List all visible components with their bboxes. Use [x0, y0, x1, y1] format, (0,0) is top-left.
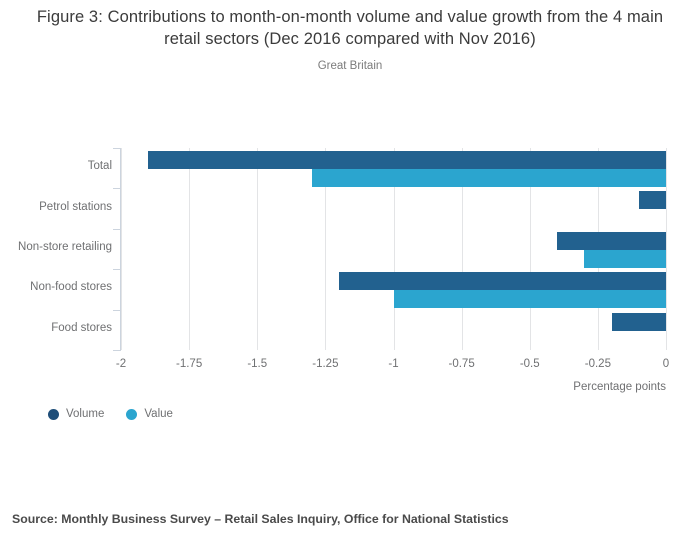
chart-subtitle: Great Britain — [18, 60, 682, 72]
title-block: Figure 3: Contributions to month-on-mont… — [18, 6, 682, 72]
legend-item[interactable]: Value — [126, 408, 173, 420]
gridline — [121, 148, 122, 350]
category-label: Non-store retailing — [2, 241, 112, 253]
bar-value[interactable] — [312, 169, 666, 187]
x-axis-tick-label: -1.5 — [247, 358, 267, 370]
bar-volume[interactable] — [639, 191, 666, 209]
x-axis-tick-label: -1 — [388, 358, 398, 370]
y-axis-tick — [113, 350, 121, 351]
gridline — [257, 148, 258, 350]
x-axis-tick-labels: -2-1.75-1.5-1.25-1-0.75-0.5-0.250 — [0, 358, 700, 374]
bar-volume[interactable] — [557, 232, 666, 250]
x-axis-tick-label: -1.25 — [312, 358, 338, 370]
x-axis-title: Percentage points — [0, 381, 666, 393]
plot-area — [121, 148, 666, 350]
y-axis-category-labels: TotalPetrol stationsNon-store retailingN… — [0, 148, 112, 350]
gridline — [189, 148, 190, 350]
page-title: Figure 3: Contributions to month-on-mont… — [18, 6, 682, 50]
x-axis-tick-label: 0 — [663, 358, 669, 370]
gridline — [666, 148, 667, 350]
chart-legend: VolumeValue — [48, 408, 173, 420]
x-axis-tick-label: -1.75 — [176, 358, 202, 370]
circle-marker-icon — [126, 409, 137, 420]
y-axis-tick — [113, 269, 121, 270]
y-axis-tick — [113, 188, 121, 189]
legend-label: Value — [144, 408, 173, 420]
bar-value[interactable] — [584, 250, 666, 268]
y-axis-tick — [113, 148, 121, 149]
x-axis-tick-label: -0.75 — [449, 358, 475, 370]
category-label: Non-food stores — [2, 281, 112, 293]
y-axis-tick — [113, 310, 121, 311]
y-axis-tick — [113, 229, 121, 230]
bar-volume[interactable] — [148, 151, 666, 169]
bar-volume[interactable] — [612, 313, 667, 331]
category-label: Total — [2, 160, 112, 172]
legend-item[interactable]: Volume — [48, 408, 104, 420]
figure-container: Figure 3: Contributions to month-on-mont… — [0, 0, 700, 549]
x-axis-tick-label: -0.5 — [520, 358, 540, 370]
bar-volume[interactable] — [339, 272, 666, 290]
source-note: Source: Monthly Business Survey – Retail… — [12, 512, 509, 526]
category-label: Food stores — [2, 322, 112, 334]
bar-value[interactable] — [394, 290, 667, 308]
circle-marker-icon — [48, 409, 59, 420]
x-axis-tick-label: -2 — [116, 358, 126, 370]
category-label: Petrol stations — [2, 201, 112, 213]
legend-label: Volume — [66, 408, 104, 420]
x-axis-tick-label: -0.25 — [585, 358, 611, 370]
